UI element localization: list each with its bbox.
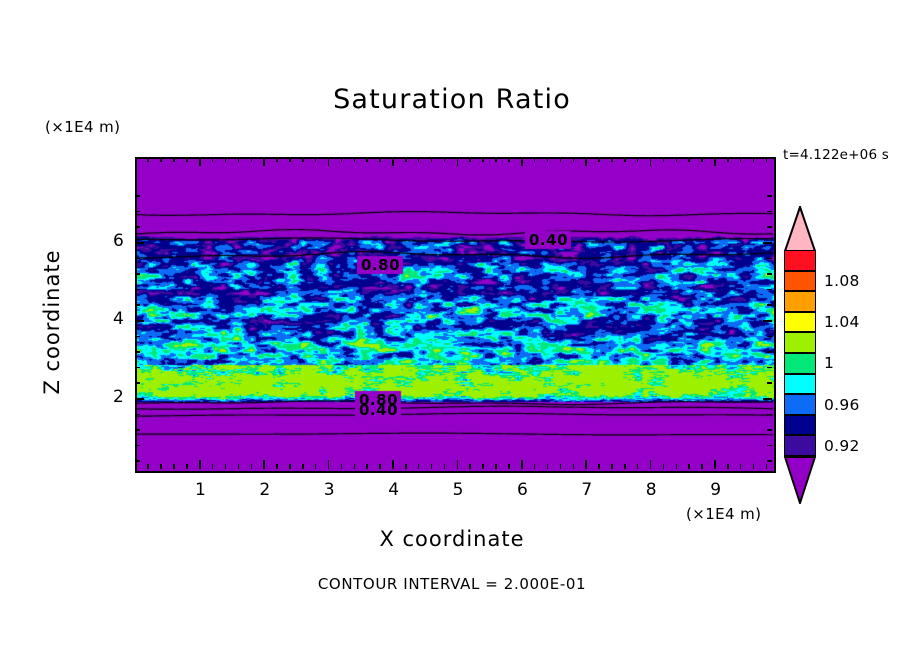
x-tick-minor-top <box>740 157 742 162</box>
colorbar-band <box>784 312 816 333</box>
y-tick-minor-right <box>767 273 772 275</box>
y-tick-major <box>135 320 144 322</box>
y-tick-major <box>135 242 144 244</box>
colorbar-tick-label: 1.04 <box>824 313 860 331</box>
contour-plot-area <box>135 157 776 473</box>
x-tick-minor <box>547 464 549 469</box>
x-tick-minor-top <box>611 157 613 162</box>
y-tick-minor-right <box>767 258 772 260</box>
y-tick-minor <box>135 273 140 275</box>
x-tick-minor <box>624 464 626 469</box>
x-tick-major <box>521 460 523 469</box>
x-tick-minor <box>251 464 253 469</box>
x-tick-label: 6 <box>517 480 528 500</box>
x-tick-label: 9 <box>710 480 721 500</box>
x-tick-major-top <box>585 157 587 166</box>
x-tick-major-top <box>328 157 330 166</box>
y-tick-major-right <box>763 242 772 244</box>
x-tick-minor <box>766 464 768 469</box>
x-tick-minor <box>354 464 356 469</box>
y-tick-minor <box>135 429 140 431</box>
x-tick-minor-top <box>547 157 549 162</box>
x-tick-minor <box>753 464 755 469</box>
x-tick-major-top <box>392 157 394 166</box>
x-tick-minor-top <box>534 157 536 162</box>
x-tick-minor-top <box>495 157 497 162</box>
y-tick-minor <box>135 445 140 447</box>
x-tick-minor-top <box>405 157 407 162</box>
x-tick-minor-top <box>186 157 188 162</box>
y-tick-minor <box>135 336 140 338</box>
y-tick-label: 2 <box>113 387 124 407</box>
x-tick-minor <box>611 464 613 469</box>
x-tick-minor <box>418 464 420 469</box>
x-tick-label: 3 <box>324 480 335 500</box>
x-tick-minor <box>598 464 600 469</box>
x-tick-major-top <box>714 157 716 166</box>
x-tick-minor <box>147 464 149 469</box>
y-axis-units-label: (×1E4 m) <box>45 118 120 136</box>
x-tick-minor-top <box>212 157 214 162</box>
y-tick-minor <box>135 367 140 369</box>
y-tick-minor-right <box>767 195 772 197</box>
x-tick-minor-top <box>753 157 755 162</box>
colorbar-band <box>784 394 816 415</box>
colorbar-tick-label: 1 <box>824 354 834 372</box>
x-axis-title: X coordinate <box>0 527 904 551</box>
contour-label: 0.80 <box>361 256 400 274</box>
colorbar: 1.081.0410.960.92 <box>784 206 816 503</box>
x-tick-minor-top <box>315 157 317 162</box>
x-tick-minor-top <box>341 157 343 162</box>
y-tick-minor <box>135 226 140 228</box>
colorbar-band <box>784 250 816 271</box>
x-tick-minor <box>663 464 665 469</box>
x-tick-minor-top <box>598 157 600 162</box>
y-tick-minor <box>135 195 140 197</box>
colorbar-extend-top <box>784 206 816 250</box>
x-tick-label: 1 <box>195 480 206 500</box>
x-tick-major <box>263 460 265 469</box>
x-tick-minor-top <box>624 157 626 162</box>
x-tick-minor-top <box>225 157 227 162</box>
y-tick-minor-right <box>767 367 772 369</box>
x-tick-minor-top <box>238 157 240 162</box>
x-tick-minor-top <box>302 157 304 162</box>
y-tick-major-right <box>763 320 772 322</box>
x-tick-minor <box>315 464 317 469</box>
x-tick-minor <box>444 464 446 469</box>
x-tick-minor-top <box>366 157 368 162</box>
x-tick-major <box>328 460 330 469</box>
x-tick-minor-top <box>482 157 484 162</box>
x-tick-minor <box>495 464 497 469</box>
x-tick-major <box>650 460 652 469</box>
x-tick-minor <box>688 464 690 469</box>
colorbar-band <box>784 332 816 353</box>
colorbar-tick-label: 0.96 <box>824 396 860 414</box>
x-tick-major-top <box>263 157 265 166</box>
colorbar-band <box>784 374 816 395</box>
x-tick-label: 7 <box>581 480 592 500</box>
y-tick-label: 6 <box>113 231 124 251</box>
x-tick-minor <box>276 464 278 469</box>
x-tick-minor-top <box>444 157 446 162</box>
x-tick-minor <box>431 464 433 469</box>
figure-root: Saturation Ratio (×1E4 m) t=4.122e+06 s … <box>0 0 904 654</box>
colorbar-band <box>784 435 816 456</box>
y-tick-minor-right <box>767 445 772 447</box>
contour-interval-note: CONTOUR INTERVAL = 2.000E-01 <box>0 575 904 593</box>
y-tick-major-right <box>763 398 772 400</box>
y-axis-title: Z coordinate <box>40 222 64 422</box>
x-tick-minor <box>560 464 562 469</box>
y-tick-minor <box>135 304 140 306</box>
x-axis-units-label: (×1E4 m) <box>686 505 761 523</box>
x-tick-minor-top <box>727 157 729 162</box>
y-tick-major <box>135 398 144 400</box>
y-tick-minor-right <box>767 460 772 462</box>
x-tick-minor <box>534 464 536 469</box>
y-tick-minor-right <box>767 226 772 228</box>
x-tick-minor-top <box>354 157 356 162</box>
colorbar-tick-label: 0.92 <box>824 437 860 455</box>
y-tick-label: 4 <box>113 309 124 329</box>
y-tick-minor <box>135 382 140 384</box>
contour-field-canvas <box>137 159 774 471</box>
x-tick-minor <box>366 464 368 469</box>
x-tick-minor-top <box>508 157 510 162</box>
colorbar-tick-label: 1.08 <box>824 272 860 290</box>
x-tick-minor-top <box>688 157 690 162</box>
colorbar-band <box>784 271 816 292</box>
x-tick-minor <box>573 464 575 469</box>
x-tick-minor <box>289 464 291 469</box>
x-tick-minor-top <box>573 157 575 162</box>
x-tick-minor <box>379 464 381 469</box>
y-tick-minor <box>135 460 140 462</box>
x-tick-major-top <box>199 157 201 166</box>
x-tick-minor <box>173 464 175 469</box>
x-tick-major <box>392 460 394 469</box>
x-tick-minor <box>701 464 703 469</box>
x-tick-minor-top <box>676 157 678 162</box>
x-tick-minor-top <box>663 157 665 162</box>
x-tick-minor-top <box>289 157 291 162</box>
x-tick-major-top <box>521 157 523 166</box>
x-tick-major <box>457 460 459 469</box>
x-tick-minor <box>341 464 343 469</box>
x-tick-label: 5 <box>453 480 464 500</box>
x-tick-major <box>199 460 201 469</box>
time-stamp-label: t=4.122e+06 s <box>783 147 889 163</box>
y-tick-minor <box>135 351 140 353</box>
x-tick-minor-top <box>276 157 278 162</box>
x-tick-minor-top <box>637 157 639 162</box>
y-tick-minor-right <box>767 351 772 353</box>
contour-label: 0.40 <box>359 401 398 419</box>
x-tick-minor-top <box>701 157 703 162</box>
x-tick-minor-top <box>766 157 768 162</box>
x-tick-minor-top <box>173 157 175 162</box>
x-tick-minor <box>186 464 188 469</box>
x-tick-minor-top <box>418 157 420 162</box>
y-tick-minor-right <box>767 429 772 431</box>
x-tick-minor <box>302 464 304 469</box>
x-tick-minor <box>212 464 214 469</box>
x-tick-minor-top <box>469 157 471 162</box>
y-tick-minor-right <box>767 211 772 213</box>
colorbar-band <box>784 353 816 374</box>
x-tick-minor-top <box>431 157 433 162</box>
y-tick-minor-right <box>767 304 772 306</box>
y-tick-minor-right <box>767 289 772 291</box>
colorbar-extend-bottom <box>784 456 816 500</box>
y-tick-minor <box>135 258 140 260</box>
x-tick-minor <box>238 464 240 469</box>
x-tick-minor <box>160 464 162 469</box>
x-tick-minor <box>225 464 227 469</box>
x-tick-major <box>585 460 587 469</box>
y-tick-minor <box>135 289 140 291</box>
x-tick-minor <box>405 464 407 469</box>
contour-label: 0.40 <box>529 231 568 249</box>
x-tick-minor <box>469 464 471 469</box>
x-tick-minor <box>508 464 510 469</box>
x-tick-minor <box>727 464 729 469</box>
y-tick-minor <box>135 211 140 213</box>
x-tick-minor <box>637 464 639 469</box>
x-tick-minor <box>740 464 742 469</box>
x-tick-major-top <box>650 157 652 166</box>
y-tick-minor-right <box>767 382 772 384</box>
x-tick-major <box>714 460 716 469</box>
colorbar-band <box>784 415 816 436</box>
x-tick-label: 2 <box>259 480 270 500</box>
x-tick-label: 4 <box>388 480 399 500</box>
x-tick-minor-top <box>160 157 162 162</box>
x-tick-minor <box>676 464 678 469</box>
y-tick-minor-right <box>767 414 772 416</box>
y-tick-minor <box>135 414 140 416</box>
x-tick-minor-top <box>379 157 381 162</box>
x-tick-major-top <box>457 157 459 166</box>
x-tick-minor <box>482 464 484 469</box>
page-title: Saturation Ratio <box>0 84 904 115</box>
x-tick-label: 8 <box>646 480 657 500</box>
colorbar-band <box>784 291 816 312</box>
x-tick-minor-top <box>560 157 562 162</box>
x-tick-minor-top <box>251 157 253 162</box>
x-tick-minor-top <box>147 157 149 162</box>
y-tick-minor-right <box>767 336 772 338</box>
